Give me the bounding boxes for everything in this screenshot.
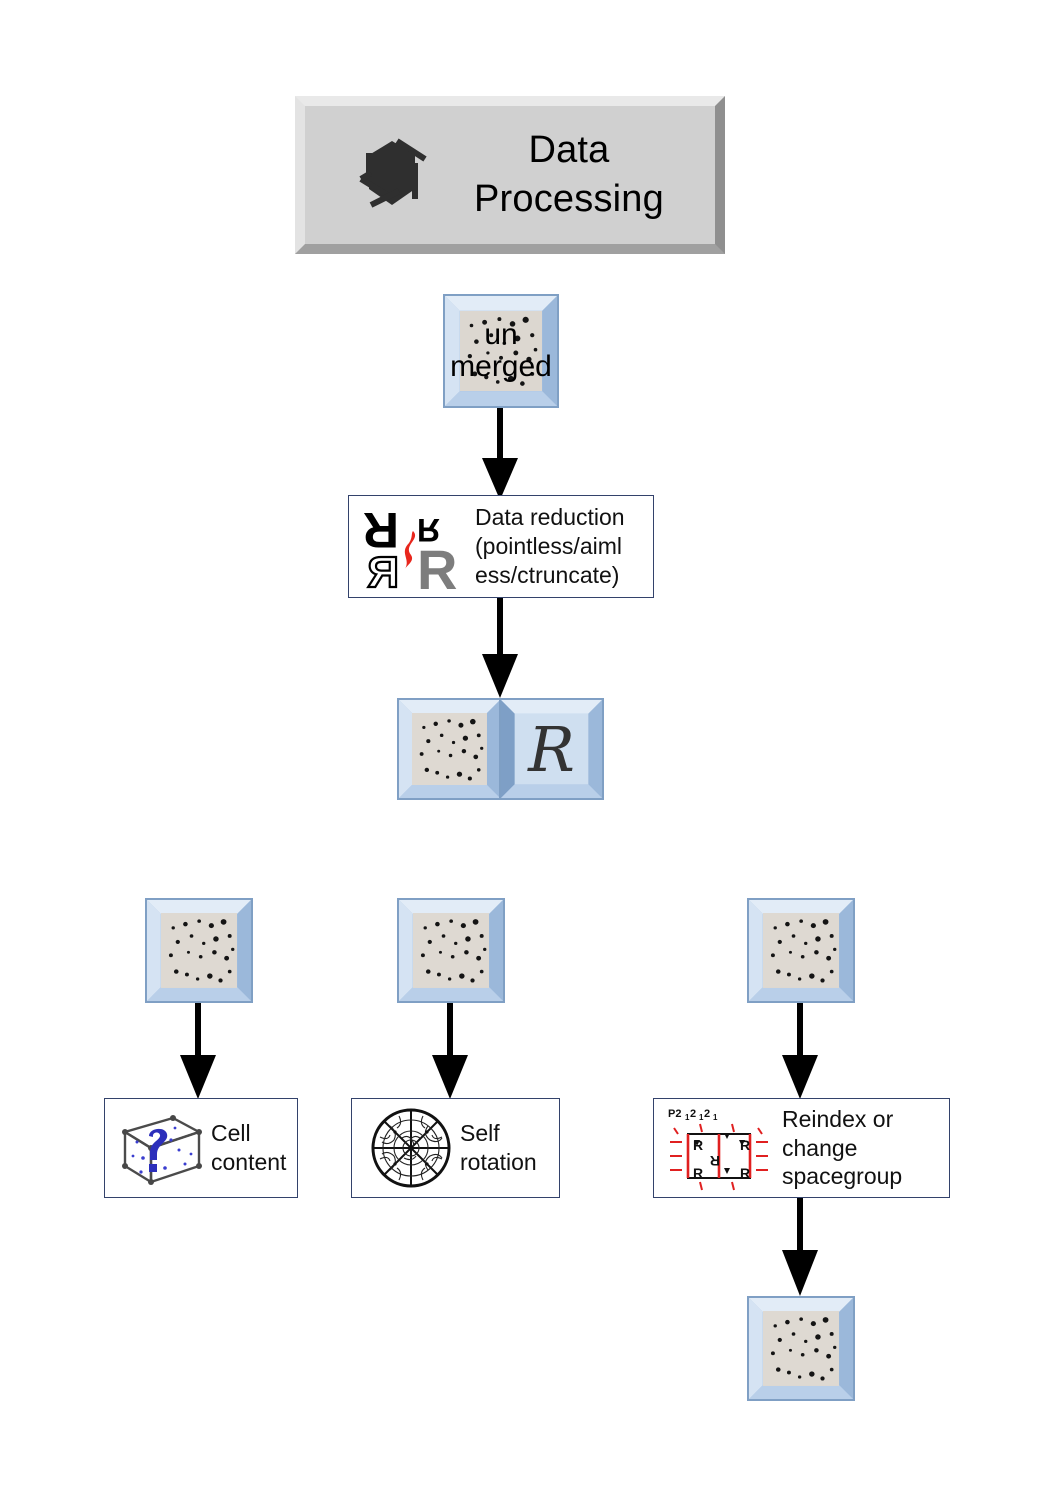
node-bevel	[500, 699, 603, 799]
task-box-data-reduction[interactable]: R R R R Data reduction (pointless/aiml e…	[348, 495, 654, 598]
node-merged-reflections[interactable]: R	[499, 698, 604, 800]
unit-cell-question-mark-icon	[115, 1106, 207, 1190]
svg-text:2: 2	[704, 1108, 710, 1120]
node-dataset-cell-content[interactable]	[145, 898, 253, 1003]
task-box-cell-content[interactable]: Cell content	[104, 1098, 298, 1198]
arrow-dataset-to-self-rotation	[429, 1003, 471, 1099]
diffraction-image-icon	[460, 311, 542, 392]
diffraction-image-icon	[412, 713, 486, 785]
data-processing-header-button[interactable]: Data Processing	[295, 96, 725, 254]
node-unmerged[interactable]: un merged	[443, 294, 559, 408]
arrow-dataset-to-cell-content	[177, 1003, 219, 1099]
node-dataset-reindexed-output[interactable]	[747, 1296, 855, 1401]
spacegroup-diagram-icon: P2 1 2 1 2 1	[660, 1102, 778, 1194]
svg-text:R: R	[367, 548, 399, 594]
node-dataset-self-rotation[interactable]	[397, 898, 505, 1003]
arrow-dataset-to-reindex	[779, 1003, 821, 1099]
svg-text:R: R	[693, 1137, 703, 1153]
task-box-self-rotation[interactable]: Self rotation	[351, 1098, 560, 1198]
header-title: Data Processing	[437, 126, 715, 223]
arrow-data-reduction-to-merged	[478, 598, 522, 698]
diffraction-image-icon	[161, 913, 237, 987]
task-box-reindex[interactable]: P2 1 2 1 2 1	[653, 1098, 950, 1198]
diffraction-image-icon	[763, 913, 839, 987]
node-dataset-reindex[interactable]	[747, 898, 855, 1003]
four-r-rotations-icon: R R R R	[355, 499, 471, 594]
svg-text:P2: P2	[668, 1108, 681, 1120]
self-rotation-function-icon	[366, 1104, 456, 1192]
svg-text:2: 2	[690, 1108, 696, 1120]
diffraction-image-icon	[413, 913, 489, 987]
svg-text:R: R	[417, 538, 457, 594]
svg-text:R: R	[693, 1165, 703, 1181]
header-content: Data Processing	[305, 106, 715, 244]
arrow-reindex-to-output	[779, 1198, 821, 1296]
task-label-cell-content: Cell content	[207, 1119, 297, 1177]
diffraction-image-icon	[763, 1311, 839, 1385]
task-label-reindex: Reindex or change spacegroup	[778, 1105, 949, 1191]
crystal-unit-cell-icon	[347, 129, 437, 221]
svg-text:1: 1	[713, 1113, 718, 1122]
diagram-canvas: Data Processing	[0, 0, 1050, 1485]
task-label-data-reduction: Data reduction (pointless/aiml ess/ctrun…	[471, 503, 653, 589]
node-merged-data[interactable]	[397, 698, 502, 800]
task-label-self-rotation: Self rotation	[456, 1119, 559, 1177]
svg-text:R: R	[710, 1153, 720, 1169]
svg-text:R: R	[740, 1165, 750, 1181]
arrow-unmerged-to-data-reduction	[478, 408, 522, 500]
